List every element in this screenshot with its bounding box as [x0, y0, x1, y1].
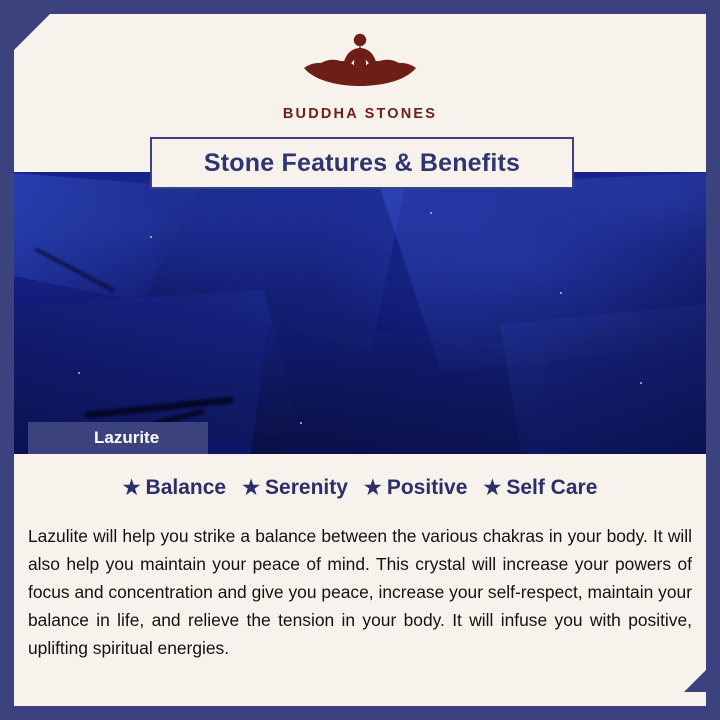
stone-photo-image: [14, 172, 706, 454]
poster-card: BUDDHA STONES Stone Features & Benefits: [14, 14, 706, 706]
benefit-item: ★ Positive: [364, 476, 467, 500]
brand-logo-area: BUDDHA STONES: [14, 24, 706, 122]
rock-facet: [500, 302, 706, 454]
mineral-speck: [300, 422, 302, 424]
benefit-label: Balance: [146, 476, 227, 500]
benefit-item: ★ Balance: [123, 476, 226, 500]
benefit-label: Self Care: [506, 476, 597, 500]
mineral-speck: [150, 236, 152, 238]
benefit-label: Positive: [387, 476, 468, 500]
mineral-speck: [640, 382, 642, 384]
stone-name-badge: Lazurite: [28, 422, 208, 454]
star-icon: ★: [123, 478, 141, 498]
stone-photo: [14, 172, 706, 454]
star-icon: ★: [364, 478, 382, 498]
bottom-strip: [14, 692, 706, 706]
brand-name: BUDDHA STONES: [14, 106, 706, 122]
description-text: Lazulite will help you strike a balance …: [28, 522, 692, 662]
benefit-item: ★ Self Care: [483, 476, 597, 500]
star-icon: ★: [483, 478, 501, 498]
mineral-speck: [560, 292, 562, 294]
stone-name: Lazurite: [28, 428, 159, 448]
benefit-item: ★ Serenity: [242, 476, 348, 500]
lotus-meditation-icon: [280, 24, 440, 102]
star-icon: ★: [242, 478, 260, 498]
benefits-row: ★ Balance ★ Serenity ★ Positive ★ Self C…: [14, 476, 706, 500]
mineral-speck: [78, 372, 80, 374]
poster-page: BUDDHA STONES Stone Features & Benefits: [0, 0, 720, 720]
mineral-speck: [430, 212, 432, 214]
title-banner: Stone Features & Benefits: [150, 137, 574, 189]
benefit-label: Serenity: [265, 476, 348, 500]
page-title: Stone Features & Benefits: [204, 149, 520, 178]
